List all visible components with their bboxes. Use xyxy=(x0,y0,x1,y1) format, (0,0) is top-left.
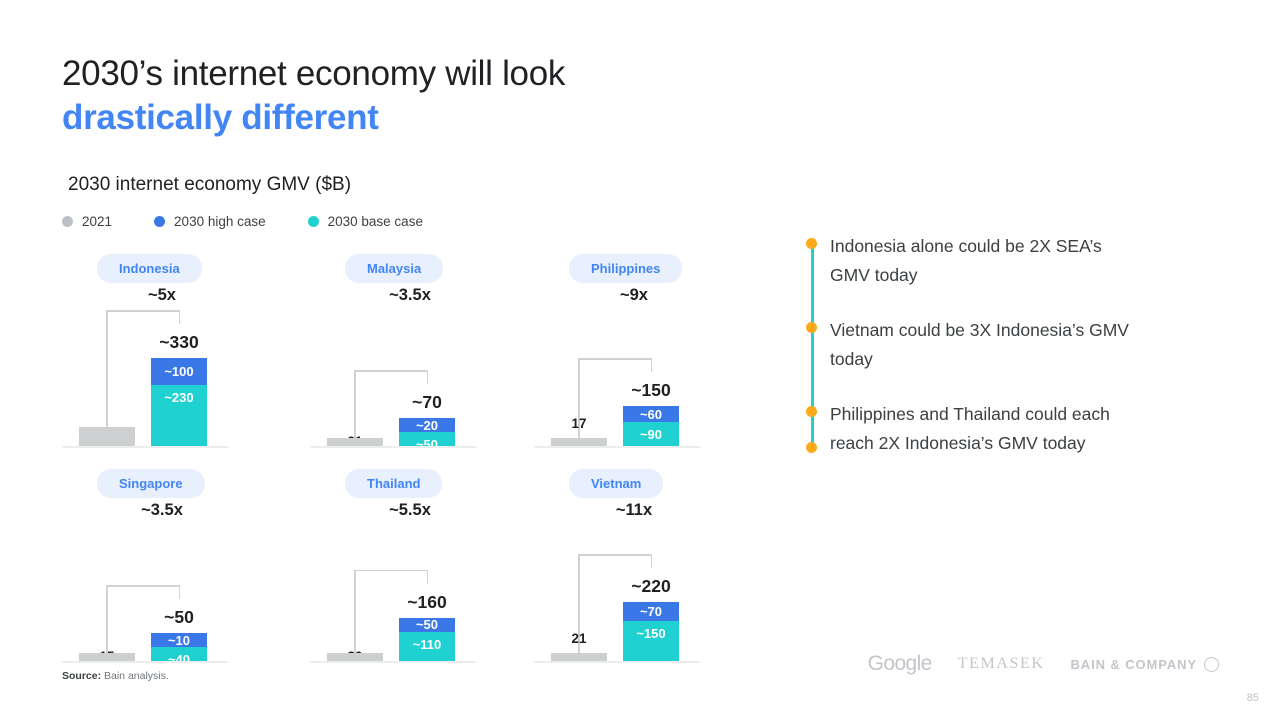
growth-multiplier-label: ~5.5x xyxy=(310,501,510,520)
chart-baseline xyxy=(534,661,700,663)
google-logo: Google xyxy=(868,652,932,676)
bar-2021[interactable] xyxy=(79,653,135,661)
bracket-top-line xyxy=(106,585,180,587)
bar-segment-high-case[interactable]: ~100 xyxy=(151,358,207,385)
legend-label: 2021 xyxy=(82,214,112,229)
country-pill-vietnam[interactable]: Vietnam xyxy=(569,469,663,498)
annotation-item: Vietnam could be 3X Indonesia’s GMV toda… xyxy=(806,316,1136,374)
slide: 2030’s internet economy will look drasti… xyxy=(0,0,1279,720)
bar-2030-stack[interactable]: ~20 ~50 xyxy=(399,418,455,446)
bar-segment-high-case[interactable]: ~60 xyxy=(623,406,679,422)
bar-2021[interactable] xyxy=(327,653,383,661)
segment-value-label: ~230 xyxy=(164,385,193,405)
bar-segment-high-case[interactable]: ~10 xyxy=(151,633,207,647)
source-note: Source: Bain analysis. xyxy=(62,670,169,682)
country-pill-philippines[interactable]: Philippines xyxy=(569,254,682,283)
chart-baseline xyxy=(310,661,476,663)
temasek-logo: TEMASEK xyxy=(958,655,1045,673)
bracket-top-line xyxy=(354,570,428,572)
chart-subtitle: 2030 internet economy GMV ($B) xyxy=(68,174,351,196)
bracket-top-line xyxy=(578,554,652,556)
segment-value-label: ~110 xyxy=(413,632,442,652)
total-value-label: ~150 xyxy=(609,380,693,401)
annotation-list: Indonesia alone could be 2X SEA’s GMV to… xyxy=(806,232,1136,484)
bracket-right-line xyxy=(427,370,429,384)
bar-2021[interactable] xyxy=(327,438,383,446)
source-text: Bain analysis. xyxy=(101,670,169,682)
bullet-dot-icon xyxy=(806,442,817,453)
bain-logo: BAIN & COMPANY xyxy=(1071,657,1219,672)
segment-value-label: ~150 xyxy=(636,621,665,641)
page-number: 85 xyxy=(1247,692,1259,704)
bracket-top-line xyxy=(354,370,428,372)
legend-item-2021: 2021 xyxy=(62,214,112,229)
bar-2021[interactable] xyxy=(551,438,607,446)
bar-segment-base-case[interactable]: ~110 xyxy=(399,632,455,661)
segment-value-label: ~40 xyxy=(168,647,190,667)
bullet-dot-icon xyxy=(806,406,817,417)
bar-2021[interactable] xyxy=(551,653,607,661)
bar-segment-base-case[interactable]: ~90 xyxy=(623,422,679,446)
legend-item-2030-high-case: 2030 high case xyxy=(154,214,266,229)
chart-baseline xyxy=(62,661,228,663)
chart-group-singapore: Singapore ~3.5x ~50 15 ~10 ~40 xyxy=(62,463,286,663)
circle-icon xyxy=(62,216,73,227)
chart-group-vietnam: Vietnam ~11x ~220 21 ~70 ~150 xyxy=(534,463,758,663)
chart-group-malaysia: Malaysia ~3.5x ~70 21 ~20 ~50 xyxy=(310,248,534,448)
segment-value-label: ~90 xyxy=(640,422,662,442)
total-value-label: ~330 xyxy=(137,332,221,353)
segment-value-label: ~70 xyxy=(640,604,662,619)
total-value-label: ~50 xyxy=(137,607,221,628)
annotation-text: Vietnam could be 3X Indonesia’s GMV toda… xyxy=(830,316,1136,374)
chart-baseline xyxy=(62,446,228,448)
bracket-left-line xyxy=(106,310,108,427)
annotation-text: Philippines and Thailand could each reac… xyxy=(830,400,1136,458)
circle-icon xyxy=(154,216,165,227)
bar-segment-high-case[interactable]: ~50 xyxy=(399,618,455,632)
chart-baseline xyxy=(310,446,476,448)
bracket-left-line xyxy=(354,570,356,653)
chart-group-indonesia: Indonesia ~5x ~330 70 ~100 ~230 xyxy=(62,248,286,448)
segment-value-label: ~10 xyxy=(168,633,190,648)
bracket-right-line xyxy=(179,585,181,599)
chart-group-thailand: Thailand ~5.5x ~160 30 ~50 ~110 xyxy=(310,463,534,663)
growth-multiplier-label: ~9x xyxy=(534,286,734,305)
bar-2030-stack[interactable]: ~10 ~40 xyxy=(151,633,207,661)
segment-value-label: ~100 xyxy=(164,364,193,379)
bracket-right-line xyxy=(427,570,429,584)
bar-2030-stack[interactable]: ~50 ~110 xyxy=(399,618,455,661)
chart-grid: Indonesia ~5x ~330 70 ~100 ~230 M xyxy=(62,248,762,678)
bullet-dot-icon xyxy=(806,238,817,249)
country-pill-indonesia[interactable]: Indonesia xyxy=(97,254,202,283)
bar-2021-value-label: 17 xyxy=(551,416,607,431)
segment-value-label: ~50 xyxy=(416,617,438,632)
logo-bar: Google TEMASEK BAIN & COMPANY xyxy=(868,652,1219,676)
annotation-text: Indonesia alone could be 2X SEA’s GMV to… xyxy=(830,232,1136,290)
country-pill-malaysia[interactable]: Malaysia xyxy=(345,254,443,283)
bar-segment-high-case[interactable]: ~70 xyxy=(623,602,679,621)
title-line-1: 2030’s internet economy will look xyxy=(62,52,565,96)
growth-multiplier-label: ~11x xyxy=(534,501,734,520)
bracket-right-line xyxy=(651,358,653,372)
bracket-left-line xyxy=(354,370,356,438)
segment-value-label: ~50 xyxy=(416,432,438,452)
bracket-top-line xyxy=(106,310,180,312)
total-value-label: ~220 xyxy=(609,576,693,597)
bar-segment-base-case[interactable]: ~50 xyxy=(399,432,455,446)
bain-logo-text: BAIN & COMPANY xyxy=(1071,657,1197,672)
bar-2030-stack[interactable]: ~100 ~230 xyxy=(151,358,207,446)
bar-segment-base-case[interactable]: ~40 xyxy=(151,647,207,661)
source-prefix: Source: xyxy=(62,670,101,682)
segment-value-label: ~20 xyxy=(416,418,438,433)
legend-label: 2030 high case xyxy=(174,214,266,229)
chart-baseline xyxy=(534,446,700,448)
annotation-item: Indonesia alone could be 2X SEA’s GMV to… xyxy=(806,232,1136,290)
growth-multiplier-label: ~3.5x xyxy=(310,286,510,305)
chart-row-2: Singapore ~3.5x ~50 15 ~10 ~40 Th xyxy=(62,463,762,678)
bar-2021-value-label: 21 xyxy=(551,631,607,646)
bar-segment-base-case[interactable]: ~150 xyxy=(623,621,679,661)
title-line-2: drastically different xyxy=(62,96,565,140)
country-pill-thailand[interactable]: Thailand xyxy=(345,469,442,498)
legend-label: 2030 base case xyxy=(328,214,423,229)
country-pill-singapore[interactable]: Singapore xyxy=(97,469,205,498)
chart-row-1: Indonesia ~5x ~330 70 ~100 ~230 M xyxy=(62,248,762,463)
total-value-label: ~70 xyxy=(385,392,469,413)
bracket-top-line xyxy=(578,358,652,360)
bracket-right-line xyxy=(651,554,653,568)
segment-value-label: ~60 xyxy=(640,407,662,422)
circle-icon xyxy=(308,216,319,227)
chart-group-philippines: Philippines ~9x ~150 17 ~60 ~90 xyxy=(534,248,758,448)
bullet-dot-icon xyxy=(806,322,817,333)
chart-legend: 2021 2030 high case 2030 base case xyxy=(62,214,465,229)
bar-2021[interactable] xyxy=(79,427,135,446)
bar-segment-high-case[interactable]: ~20 xyxy=(399,418,455,432)
growth-multiplier-label: ~5x xyxy=(62,286,262,305)
legend-item-2030-base-case: 2030 base case xyxy=(308,214,423,229)
bar-2030-stack[interactable]: ~70 ~150 xyxy=(623,602,679,661)
page-title: 2030’s internet economy will look drasti… xyxy=(62,52,565,140)
bar-2030-stack[interactable]: ~60 ~90 xyxy=(623,406,679,446)
bar-segment-base-case[interactable]: ~230 xyxy=(151,385,207,446)
growth-multiplier-label: ~3.5x xyxy=(62,501,262,520)
total-value-label: ~160 xyxy=(385,592,469,613)
annotation-item: Philippines and Thailand could each reac… xyxy=(806,400,1136,458)
bracket-right-line xyxy=(179,310,181,324)
bracket-left-line xyxy=(106,585,108,653)
bain-circle-icon xyxy=(1204,657,1219,672)
